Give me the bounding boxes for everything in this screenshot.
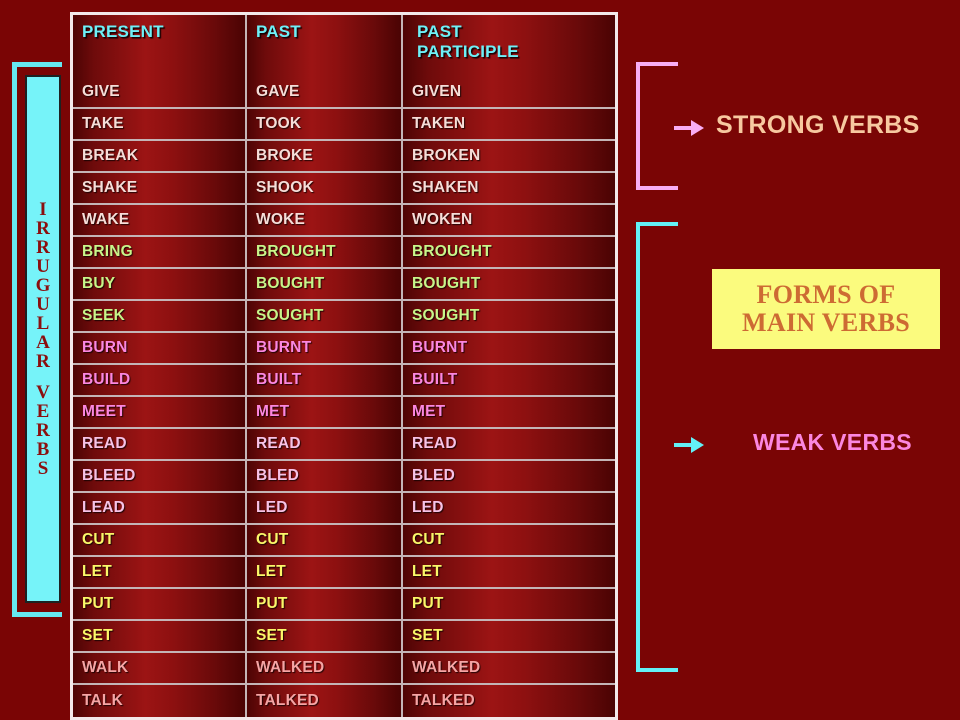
verb-cell-past: PUT	[247, 589, 403, 621]
sidebar-letter: B	[37, 440, 50, 459]
sidebar-letter: V	[36, 383, 50, 402]
table-row: LETLETLET	[73, 557, 615, 589]
sidebar-letter: E	[37, 402, 50, 421]
verb-cell-past: BOUGHT	[247, 269, 403, 301]
verb-cell-present: LEAD	[73, 493, 247, 525]
table-row: CUTCUTCUT	[73, 525, 615, 557]
verb-cell-participle: PUT	[403, 589, 615, 621]
sidebar-letter: R	[36, 352, 50, 371]
verb-cell-present: TAKE	[73, 109, 247, 141]
column-header-present: PRESENT	[73, 15, 247, 77]
table-row: WALKWALKEDWALKED	[73, 653, 615, 685]
table-row: SHAKESHOOKSHAKEN	[73, 173, 615, 205]
verb-cell-past: LED	[247, 493, 403, 525]
verb-cell-past: READ	[247, 429, 403, 461]
header-past-line: PAST	[417, 22, 462, 41]
weak-verbs-label: WEAK VERBS	[753, 429, 912, 456]
verb-cell-present: SEEK	[73, 301, 247, 333]
verb-cell-participle: SOUGHT	[403, 301, 615, 333]
table-row: SEEKSOUGHTSOUGHT	[73, 301, 615, 333]
verb-cell-participle: LED	[403, 493, 615, 525]
weak-verbs-arrow-icon	[691, 437, 704, 453]
weak-verbs-arrow-line	[674, 443, 692, 447]
verb-cell-participle: GIVEN	[403, 77, 615, 109]
forms-box-line1: FORMS OF	[757, 281, 896, 309]
verb-cell-participle: BOUGHT	[403, 269, 615, 301]
verb-cell-past: LET	[247, 557, 403, 589]
table-row: GIVEGAVEGIVEN	[73, 77, 615, 109]
table-row: LEADLEDLED	[73, 493, 615, 525]
verb-cell-past: SET	[247, 621, 403, 653]
strong-verbs-label: STRONG VERBS	[716, 111, 920, 140]
verb-cell-past: BUILT	[247, 365, 403, 397]
verb-cell-present: WALK	[73, 653, 247, 685]
verb-cell-present: CUT	[73, 525, 247, 557]
table-row: TAKETOOKTAKEN	[73, 109, 615, 141]
verb-cell-participle: BLED	[403, 461, 615, 493]
verb-cell-participle: TALKED	[403, 685, 615, 717]
table-row: BURNBURNTBURNT	[73, 333, 615, 365]
verb-cell-past: MET	[247, 397, 403, 429]
weak-verbs-bracket	[636, 222, 678, 672]
table-row: BUYBOUGHTBOUGHT	[73, 269, 615, 301]
sidebar-letter: R	[36, 421, 50, 440]
verb-cell-present: SET	[73, 621, 247, 653]
table-row: BREAKBROKEBROKEN	[73, 141, 615, 173]
verb-cell-present: BURN	[73, 333, 247, 365]
sidebar-letter: S	[38, 459, 49, 478]
table-header-row: PRESENT PAST PAST PARTICIPLE	[73, 15, 615, 77]
verb-cell-past: BLED	[247, 461, 403, 493]
slide-canvas: IRRUGULARVERBS PRESENT PAST PAST PARTICI…	[0, 0, 960, 720]
sidebar-letter: A	[36, 333, 50, 352]
table-row: BLEEDBLEDBLED	[73, 461, 615, 493]
sidebar-letter: G	[36, 276, 51, 295]
table-row: MEETMETMET	[73, 397, 615, 429]
verb-cell-participle: BUILT	[403, 365, 615, 397]
sidebar-letter: L	[37, 314, 50, 333]
verb-cell-present: BUILD	[73, 365, 247, 397]
verb-cell-participle: TAKEN	[403, 109, 615, 141]
table-row: TALKTALKEDTALKED	[73, 685, 615, 717]
verb-cell-past: TALKED	[247, 685, 403, 717]
verb-cell-past: BURNT	[247, 333, 403, 365]
sidebar-letter: R	[36, 219, 50, 238]
table-row: BRINGBROUGHTBROUGHT	[73, 237, 615, 269]
table-row: PUTPUTPUT	[73, 589, 615, 621]
table-row: WAKEWOKEWOKEN	[73, 205, 615, 237]
verb-cell-participle: WALKED	[403, 653, 615, 685]
forms-box-line2: MAIN VERBS	[742, 309, 910, 337]
verb-cell-participle: READ	[403, 429, 615, 461]
verb-cell-past: BROKE	[247, 141, 403, 173]
verb-cell-past: GAVE	[247, 77, 403, 109]
sidebar-letter: R	[36, 238, 50, 257]
column-header-past-participle: PAST PARTICIPLE	[403, 15, 615, 77]
verb-cell-participle: LET	[403, 557, 615, 589]
verb-cell-participle: MET	[403, 397, 615, 429]
strong-verbs-arrow-icon	[691, 120, 704, 136]
strong-verbs-bracket	[636, 62, 678, 190]
verb-cell-past: BROUGHT	[247, 237, 403, 269]
verb-cell-participle: BROUGHT	[403, 237, 615, 269]
verb-cell-past: SOUGHT	[247, 301, 403, 333]
verb-table-body: GIVEGAVEGIVENTAKETOOKTAKENBREAKBROKEBROK…	[73, 77, 615, 717]
verb-cell-present: READ	[73, 429, 247, 461]
sidebar-letter: I	[39, 200, 46, 219]
verb-cell-present: SHAKE	[73, 173, 247, 205]
table-row: SETSETSET	[73, 621, 615, 653]
verb-cell-past: WALKED	[247, 653, 403, 685]
verb-cell-participle: CUT	[403, 525, 615, 557]
verb-cell-present: PUT	[73, 589, 247, 621]
forms-of-main-verbs-box: FORMS OF MAIN VERBS	[712, 269, 940, 349]
sidebar-letter: U	[36, 295, 50, 314]
verb-cell-present: BUY	[73, 269, 247, 301]
verb-cell-present: WAKE	[73, 205, 247, 237]
table-row: READREADREAD	[73, 429, 615, 461]
verb-cell-participle: SHAKEN	[403, 173, 615, 205]
verb-cell-past: WOKE	[247, 205, 403, 237]
verb-cell-present: LET	[73, 557, 247, 589]
column-header-past: PAST	[247, 15, 403, 77]
verb-cell-participle: WOKEN	[403, 205, 615, 237]
verb-cell-present: MEET	[73, 397, 247, 429]
verb-cell-past: SHOOK	[247, 173, 403, 205]
verb-cell-participle: SET	[403, 621, 615, 653]
table-row: BUILDBUILTBUILT	[73, 365, 615, 397]
sidebar-letter: U	[36, 257, 50, 276]
verb-cell-past: TOOK	[247, 109, 403, 141]
strong-verbs-arrow-line	[674, 126, 692, 130]
verb-cell-participle: BURNT	[403, 333, 615, 365]
verb-forms-table: PRESENT PAST PAST PARTICIPLE GIVEGAVEGIV…	[70, 12, 618, 720]
verb-cell-past: CUT	[247, 525, 403, 557]
sidebar-irregular-verbs-box: IRRUGULARVERBS	[25, 75, 61, 603]
verb-cell-participle: BROKEN	[403, 141, 615, 173]
verb-cell-present: GIVE	[73, 77, 247, 109]
verb-cell-present: BRING	[73, 237, 247, 269]
verb-cell-present: BLEED	[73, 461, 247, 493]
verb-cell-present: BREAK	[73, 141, 247, 173]
verb-cell-present: TALK	[73, 685, 247, 717]
header-participle-line: PARTICIPLE	[417, 42, 519, 61]
